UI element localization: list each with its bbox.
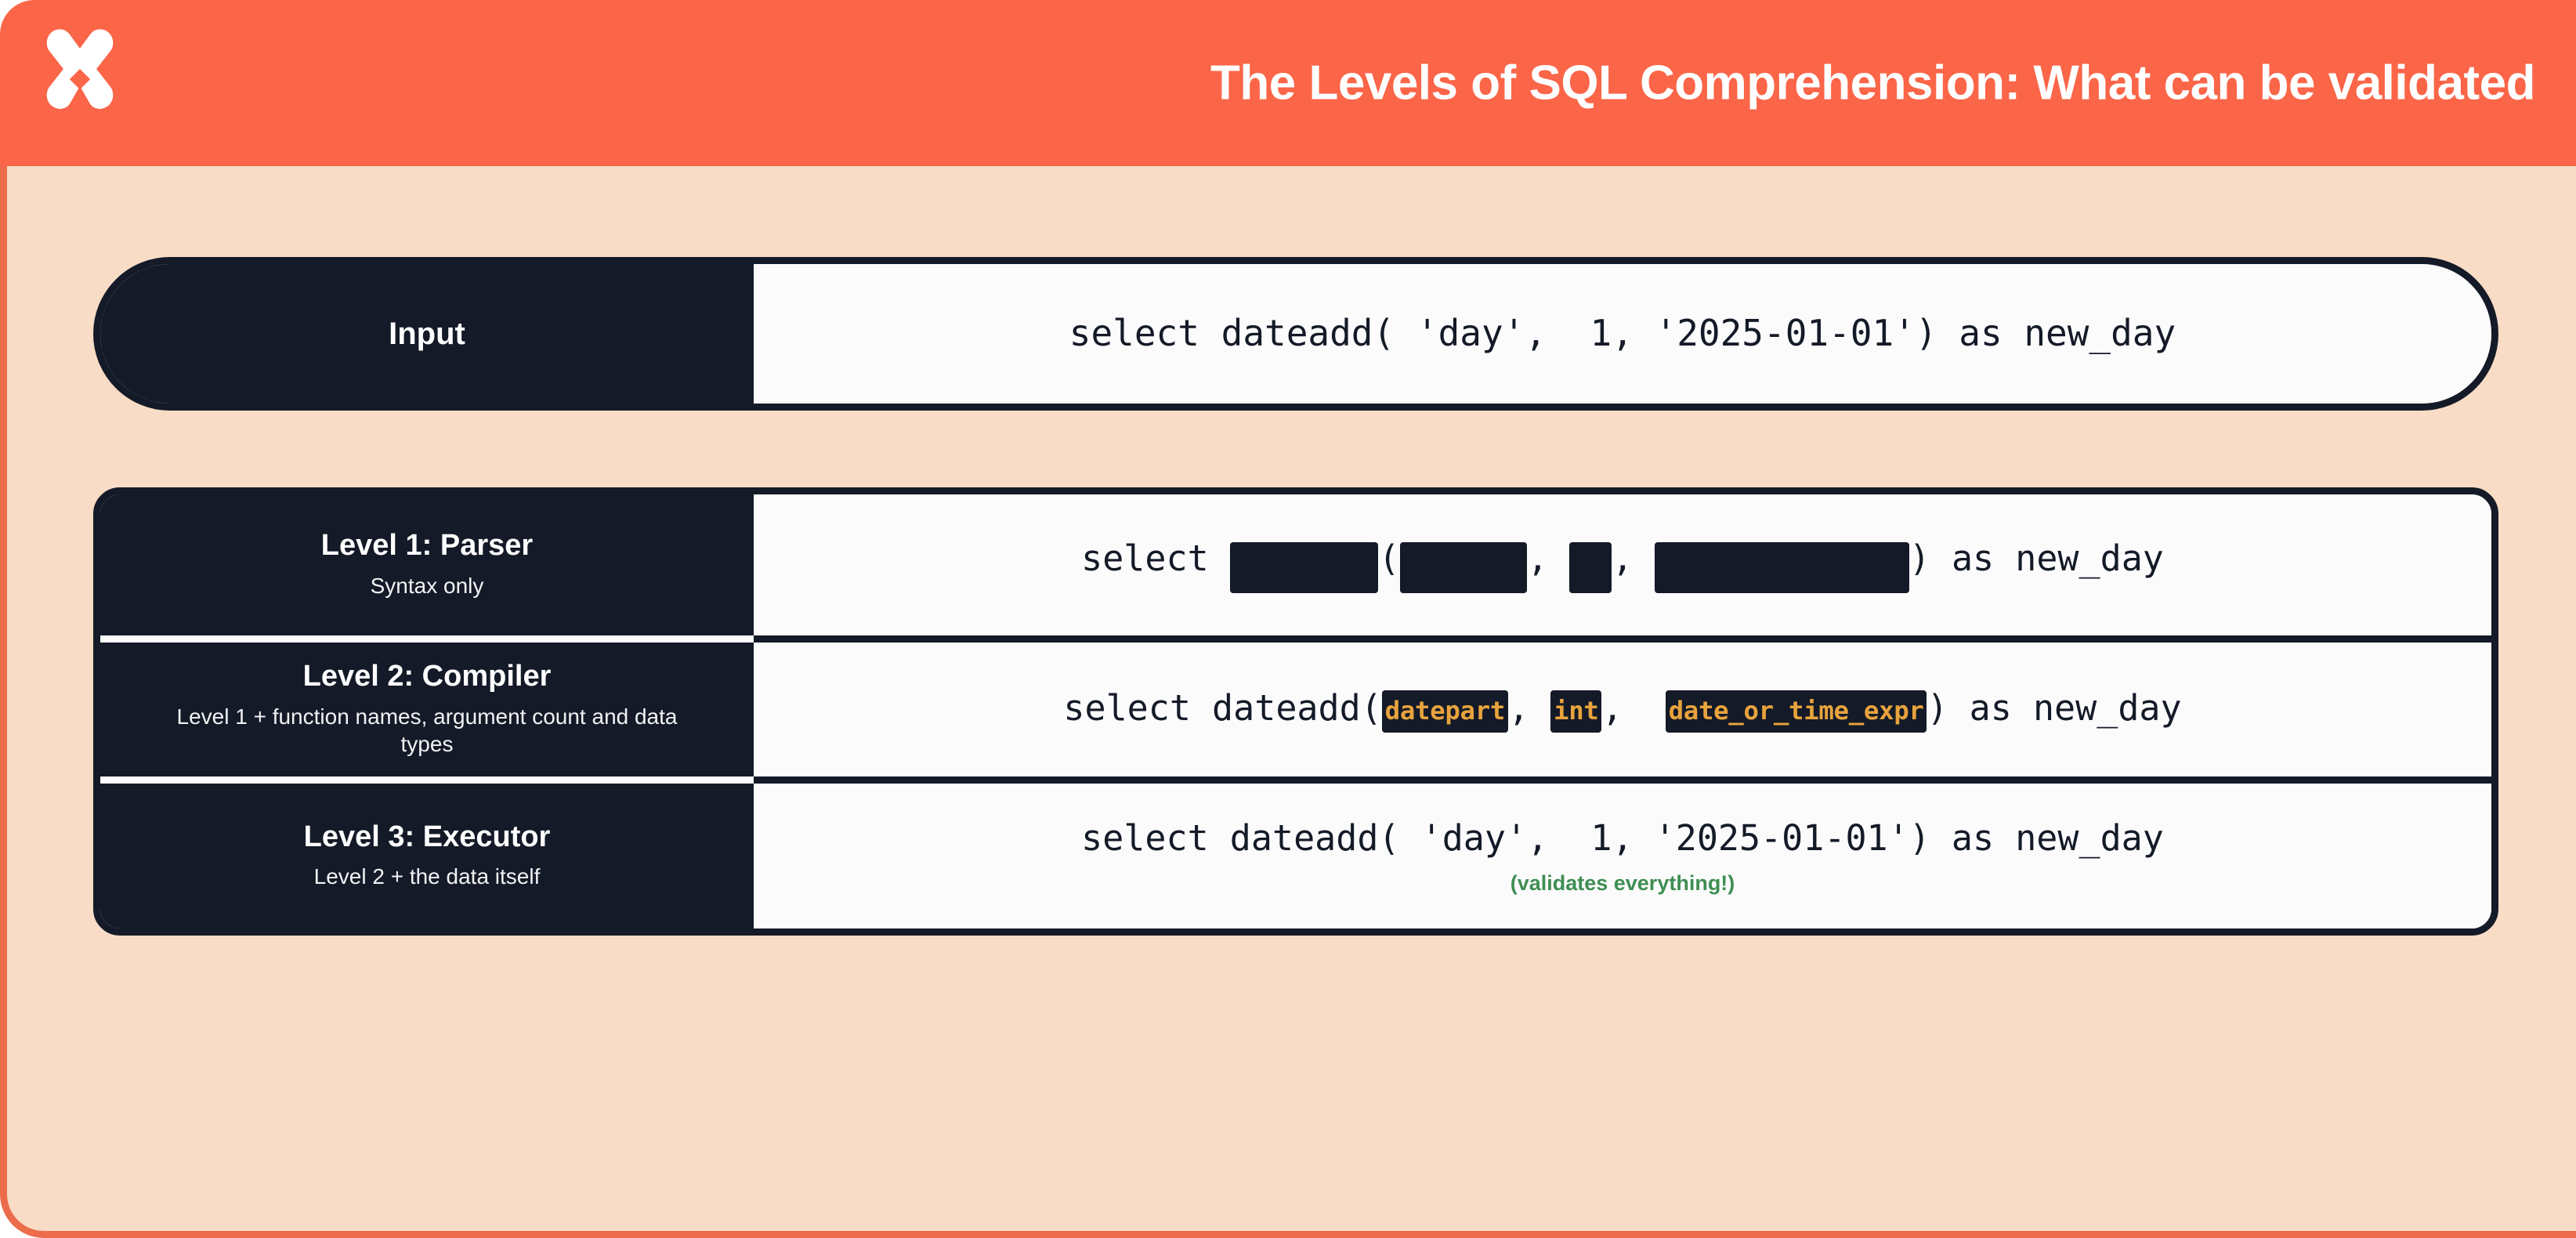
code-text: select <box>1081 538 1230 579</box>
code-text: ) as new_day <box>1927 687 2181 729</box>
redacted-token: 'day' <box>1400 542 1528 592</box>
type-token: datepart <box>1382 690 1508 733</box>
redacted-token: '2025-01-01' <box>1655 542 1909 592</box>
header-bar: The Levels of SQL Comprehension: What ca… <box>0 0 2576 166</box>
input-code-cell: select dateadd( 'day', 1, '2025-01-01') … <box>754 264 2491 404</box>
level-row: Level 3: Executor Level 2 + the data its… <box>100 776 2491 928</box>
input-sql-code: select dateadd( 'day', 1, '2025-01-01') … <box>1069 311 2176 357</box>
level-1-code-cell: select dateadd( 'day', 1, '2025-01-01') … <box>754 494 2491 635</box>
level-1-title: Level 1: Parser <box>321 530 533 563</box>
level-2-subtitle: Level 1 + function names, argument count… <box>153 703 701 759</box>
level-2-code-cell: select dateadd(datepart, int, date_or_ti… <box>754 643 2491 776</box>
level-row: Level 2: Compiler Level 1 + function nam… <box>100 635 2491 776</box>
code-text: , <box>1508 687 1550 729</box>
level-3-title: Level 3: Executor <box>304 821 551 854</box>
levels-card: Level 1: Parser Syntax only select datea… <box>93 487 2498 936</box>
redacted-token: 1 <box>1569 542 1612 592</box>
level-2-label: Level 2: Compiler Level 1 + function nam… <box>100 635 754 776</box>
infographic-page: The Levels of SQL Comprehension: What ca… <box>0 0 2576 1238</box>
code-text: ) as new_day <box>1909 538 2164 579</box>
input-label: Input <box>100 264 754 404</box>
level-3-subtitle: Level 2 + the data itself <box>314 863 541 891</box>
code-text: select dateadd( 'day', 1, '2025-01-01') … <box>1081 817 2164 859</box>
level-3-note: (validates everything!) <box>1511 871 1735 896</box>
level-1-sql-code: select dateadd( 'day', 1, '2025-01-01') … <box>1081 537 2164 592</box>
level-2-sql-code: select dateadd(datepart, int, date_or_ti… <box>1063 686 2181 733</box>
level-3-code-cell: select dateadd( 'day', 1, '2025-01-01') … <box>754 784 2491 928</box>
type-token: date_or_time_expr <box>1666 690 1927 733</box>
code-text: , <box>1601 687 1665 729</box>
level-3-sql-code: select dateadd( 'day', 1, '2025-01-01') … <box>1081 816 2164 860</box>
input-card: Input select dateadd( 'day', 1, '2025-01… <box>93 257 2498 411</box>
code-text: , <box>1527 538 1569 579</box>
level-2-title: Level 2: Compiler <box>303 661 552 693</box>
redacted-token: dateadd <box>1230 542 1379 592</box>
code-text: select dateadd( <box>1063 687 1381 729</box>
level-3-label: Level 3: Executor Level 2 + the data its… <box>100 776 754 928</box>
level-row: Level 1: Parser Syntax only select datea… <box>100 494 2491 635</box>
xebia-logo-icon <box>31 20 128 118</box>
page-title: The Levels of SQL Comprehension: What ca… <box>1210 56 2535 111</box>
type-token: int <box>1550 690 1601 733</box>
code-text: ( <box>1378 538 1399 579</box>
level-1-label: Level 1: Parser Syntax only <box>100 494 754 635</box>
code-text: , <box>1612 538 1654 579</box>
level-1-subtitle: Syntax only <box>371 572 484 600</box>
content-panel: Input select dateadd( 'day', 1, '2025-01… <box>0 166 2576 1238</box>
